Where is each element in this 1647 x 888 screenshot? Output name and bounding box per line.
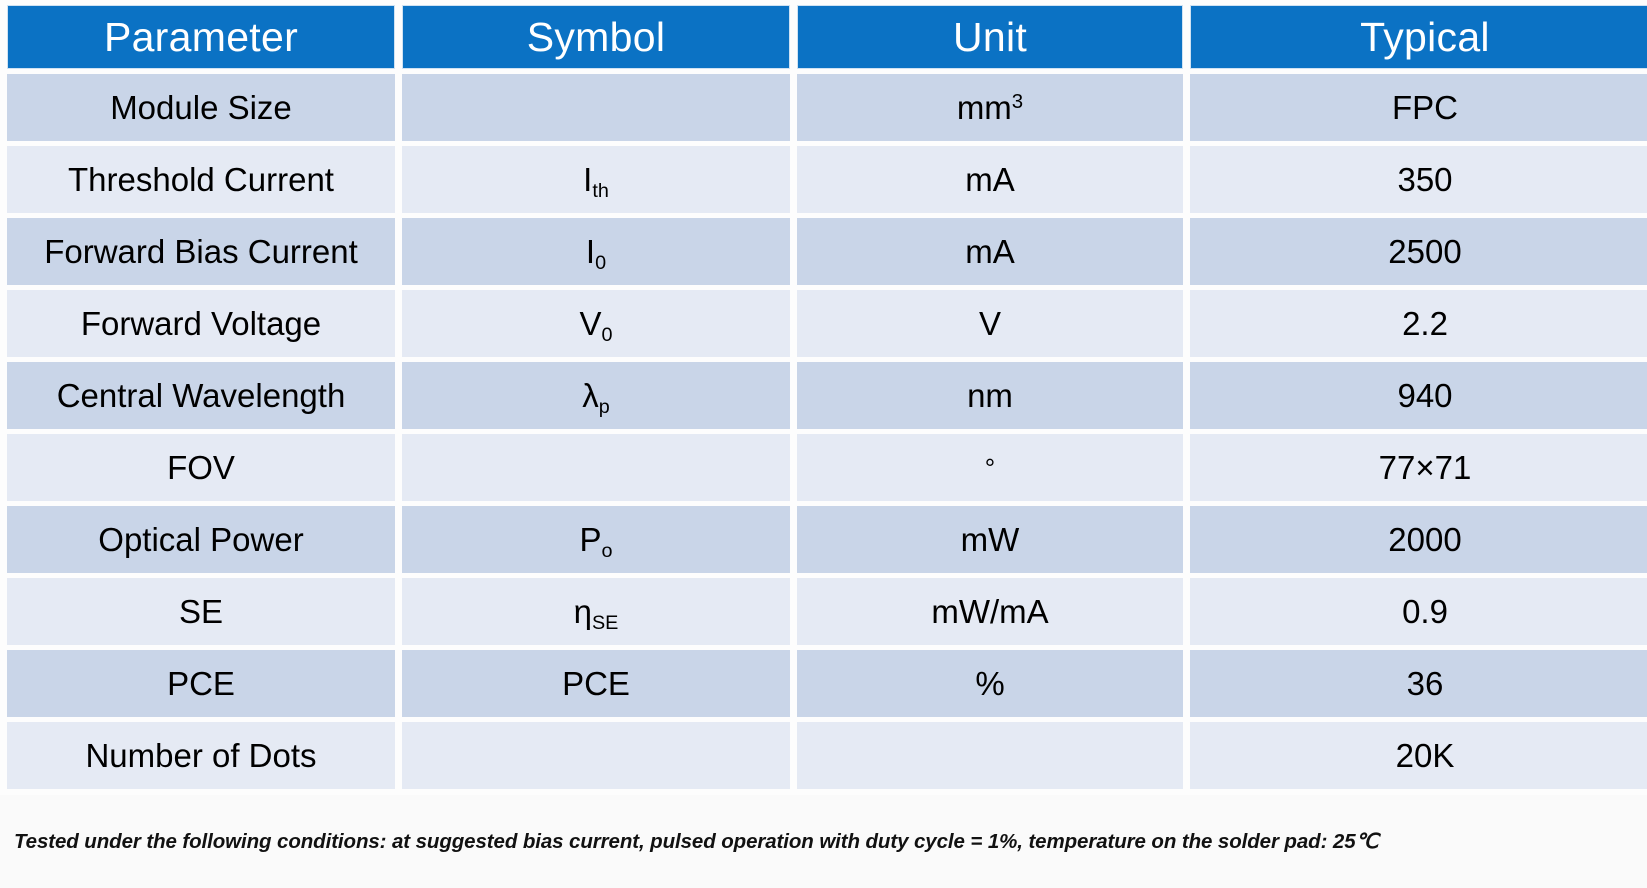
cell-parameter: FOV xyxy=(7,434,395,501)
table-row: Optical PowerPomW2000 xyxy=(7,506,1647,573)
symbol-subscript: 0 xyxy=(595,252,606,274)
table-row: Forward VoltageV0V2.2 xyxy=(7,290,1647,357)
cell-symbol: ηSE xyxy=(402,578,790,645)
cell-unit: mW xyxy=(797,506,1183,573)
cell-parameter: Forward Voltage xyxy=(7,290,395,357)
column-header-parameter: Parameter xyxy=(7,5,395,69)
cell-symbol xyxy=(402,434,790,501)
cell-parameter: Central Wavelength xyxy=(7,362,395,429)
spec-sheet: Parameter Symbol Unit Typical Module Siz… xyxy=(0,0,1647,888)
cell-typical: 2500 xyxy=(1190,218,1647,285)
table-header: Parameter Symbol Unit Typical xyxy=(7,5,1647,69)
cell-symbol: I0 xyxy=(402,218,790,285)
cell-unit: mA xyxy=(797,146,1183,213)
footnote-text: Tested under the following conditions: a… xyxy=(0,829,1378,854)
cell-parameter: Threshold Current xyxy=(7,146,395,213)
table-row: SEηSEmW/mA0.9 xyxy=(7,578,1647,645)
cell-unit: mm3 xyxy=(797,74,1183,141)
column-header-symbol: Symbol xyxy=(402,5,790,69)
cell-unit xyxy=(797,722,1183,789)
table-row: Central Wavelengthλpnm940 xyxy=(7,362,1647,429)
cell-symbol: λp xyxy=(402,362,790,429)
degree-glyph: ° xyxy=(985,453,995,483)
symbol-subscript: 0 xyxy=(602,324,613,346)
cell-unit: mA xyxy=(797,218,1183,285)
symbol-subscript: SE xyxy=(592,612,618,634)
cell-typical: 77×71 xyxy=(1190,434,1647,501)
table-row: PCEPCE%36 xyxy=(7,650,1647,717)
column-header-typical: Typical xyxy=(1190,5,1647,69)
cell-typical: FPC xyxy=(1190,74,1647,141)
table-row: Number of Dots20K xyxy=(7,722,1647,789)
cell-unit: nm xyxy=(797,362,1183,429)
cell-parameter: PCE xyxy=(7,650,395,717)
table-row: Threshold CurrentIthmA350 xyxy=(7,146,1647,213)
table-row: FOV°77×71 xyxy=(7,434,1647,501)
cell-typical: 20K xyxy=(1190,722,1647,789)
table-body: Module Sizemm3FPCThreshold CurrentIthmA3… xyxy=(7,74,1647,789)
cell-symbol: PCE xyxy=(402,650,790,717)
table-row: Module Sizemm3FPC xyxy=(7,74,1647,141)
footnote-bar: Tested under the following conditions: a… xyxy=(0,795,1647,888)
cell-symbol xyxy=(402,74,790,141)
cell-typical: 36 xyxy=(1190,650,1647,717)
cell-parameter: Optical Power xyxy=(7,506,395,573)
cell-symbol: V0 xyxy=(402,290,790,357)
table-row: Forward Bias CurrentI0mA2500 xyxy=(7,218,1647,285)
cell-unit: mW/mA xyxy=(797,578,1183,645)
cell-symbol: Ith xyxy=(402,146,790,213)
cell-typical: 350 xyxy=(1190,146,1647,213)
symbol-subscript: p xyxy=(599,396,610,418)
cell-parameter: Forward Bias Current xyxy=(7,218,395,285)
cell-unit: ° xyxy=(797,434,1183,501)
cell-symbol: Po xyxy=(402,506,790,573)
cell-symbol xyxy=(402,722,790,789)
symbol-subscript: o xyxy=(602,540,613,562)
cell-parameter: Number of Dots xyxy=(7,722,395,789)
cell-typical: 0.9 xyxy=(1190,578,1647,645)
symbol-subscript: th xyxy=(592,180,609,202)
column-header-unit: Unit xyxy=(797,5,1183,69)
cell-unit: V xyxy=(797,290,1183,357)
cell-parameter: SE xyxy=(7,578,395,645)
specification-table: Parameter Symbol Unit Typical Module Siz… xyxy=(0,0,1647,794)
cell-typical: 2.2 xyxy=(1190,290,1647,357)
cell-unit: % xyxy=(797,650,1183,717)
cell-parameter: Module Size xyxy=(7,74,395,141)
unit-superscript: 3 xyxy=(1012,90,1023,113)
cell-typical: 2000 xyxy=(1190,506,1647,573)
table-header-row: Parameter Symbol Unit Typical xyxy=(7,5,1647,69)
cell-typical: 940 xyxy=(1190,362,1647,429)
